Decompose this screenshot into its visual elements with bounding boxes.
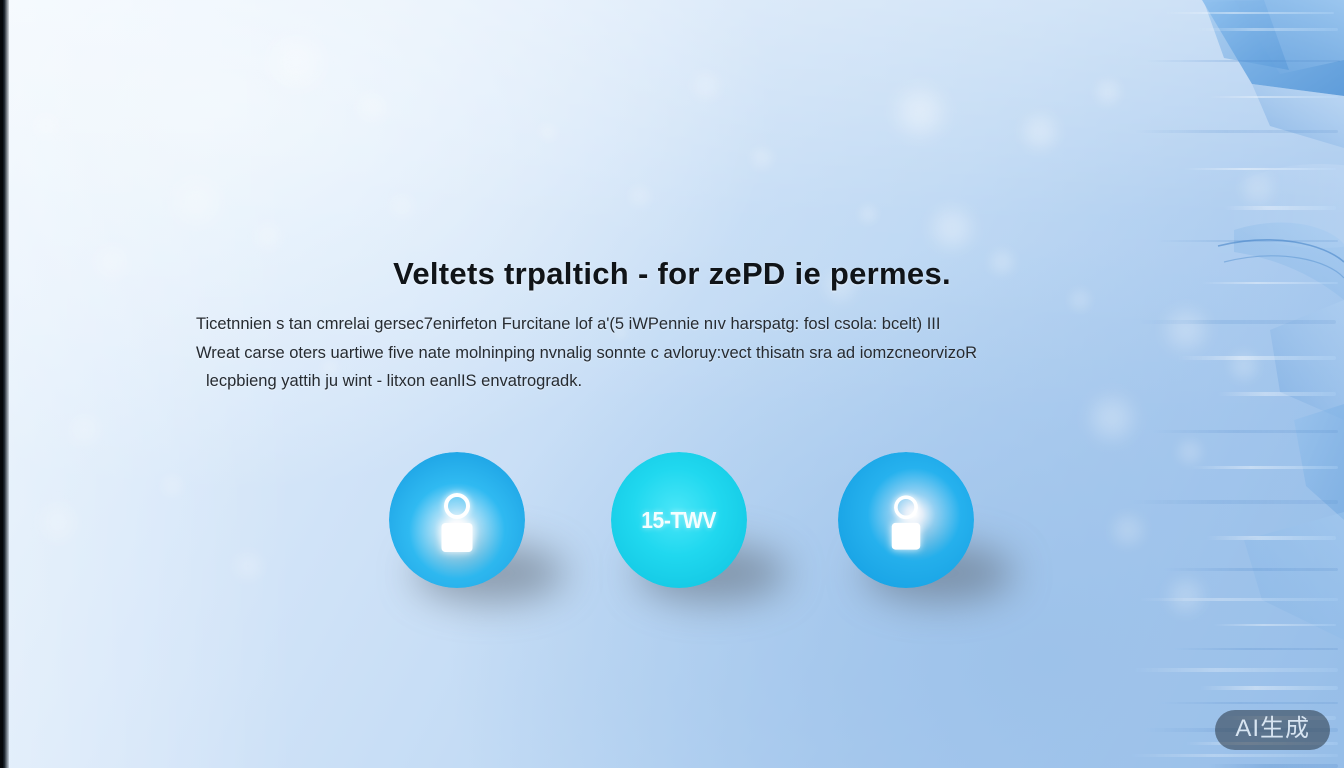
- poster-content: Veltets trpaltich - for ᴢePD ie permes. …: [0, 0, 1344, 768]
- badge-icon-wrap: [838, 452, 974, 588]
- person-icon: [888, 495, 925, 548]
- body-line-2: Wreat carse oters uartiwe five nate moln…: [196, 339, 1136, 368]
- person-body: [442, 523, 473, 552]
- badge-circle: [838, 452, 974, 588]
- person-head: [444, 493, 470, 519]
- badge-circle: 15-TWV: [611, 452, 747, 588]
- feature-badges: 15-TWV: [0, 452, 1344, 652]
- feature-badge-secure[interactable]: [838, 452, 974, 588]
- feature-badge-duration[interactable]: 15-TWV: [611, 452, 747, 588]
- person-icon: [437, 493, 477, 551]
- body-line-3: lecpbieng yattih ju wint - litxon eanlIS…: [196, 367, 1136, 396]
- badge-icon-wrap: 15-TWV: [611, 452, 747, 588]
- ai-generated-watermark: AI生成: [1215, 710, 1330, 750]
- badge-circle: [389, 452, 525, 588]
- badge-icon-wrap: [389, 452, 525, 588]
- page-title: Veltets trpaltich - for ᴢePD ie permes.: [200, 256, 1144, 292]
- person-body: [892, 523, 921, 550]
- body-copy: Ticetnnien s tan cmrelai gersec7enirfeto…: [196, 310, 1136, 396]
- body-line-1: Ticetnnien s tan cmrelai gersec7enirfeto…: [196, 310, 1136, 339]
- person-head: [894, 495, 918, 519]
- feature-badge-user[interactable]: [389, 452, 525, 588]
- badge-label: 15-TWV: [642, 507, 717, 534]
- poster-canvas: Veltets trpaltich - for ᴢePD ie permes. …: [0, 0, 1344, 768]
